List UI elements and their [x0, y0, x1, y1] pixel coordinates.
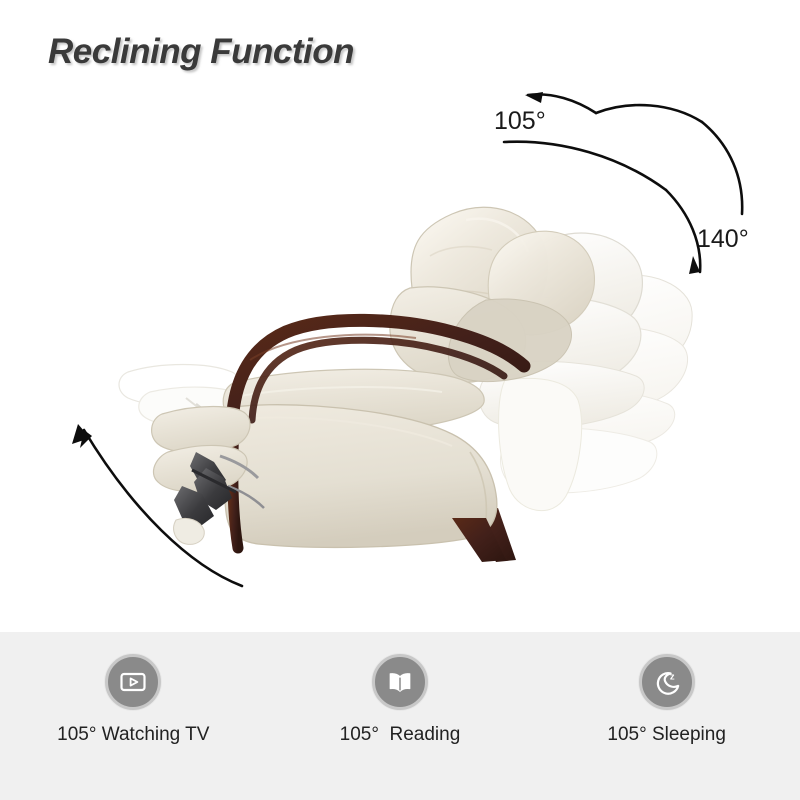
page-title: Reclining Function [48, 32, 354, 72]
recliner-illustration-svg [0, 0, 800, 632]
tv-play-icon [118, 667, 148, 697]
ghost-chair-body [499, 378, 582, 510]
feature-item-reading[interactable]: 105° Reading [280, 654, 520, 746]
tv-play-icon-circle [105, 654, 161, 710]
feature-panel: 105° Watching TV 105° Reading z 105° [0, 632, 800, 800]
chair-side-body [223, 405, 497, 548]
open-book-icon [385, 667, 415, 697]
hero-illustration: 105° 140° [0, 0, 800, 632]
open-book-icon-circle [372, 654, 428, 710]
feature-label-watching-tv: 105° Watching TV [57, 724, 209, 746]
feature-item-watching-tv[interactable]: 105° Watching TV [13, 654, 253, 746]
svg-text:z: z [669, 672, 674, 683]
moon-sleep-icon-circle: z [639, 654, 695, 710]
product-feature-graphic: 105° 140° 105° Watching TV 1 [0, 0, 800, 800]
feature-item-sleeping[interactable]: z 105° Sleeping [547, 654, 787, 746]
angle-label-140: 140° [697, 225, 749, 254]
feature-label-sleeping: 105° Sleeping [607, 724, 726, 746]
angle-label-105: 105° [494, 107, 546, 136]
feature-label-reading: 105° Reading [340, 724, 461, 746]
moon-sleep-icon: z [652, 667, 682, 697]
